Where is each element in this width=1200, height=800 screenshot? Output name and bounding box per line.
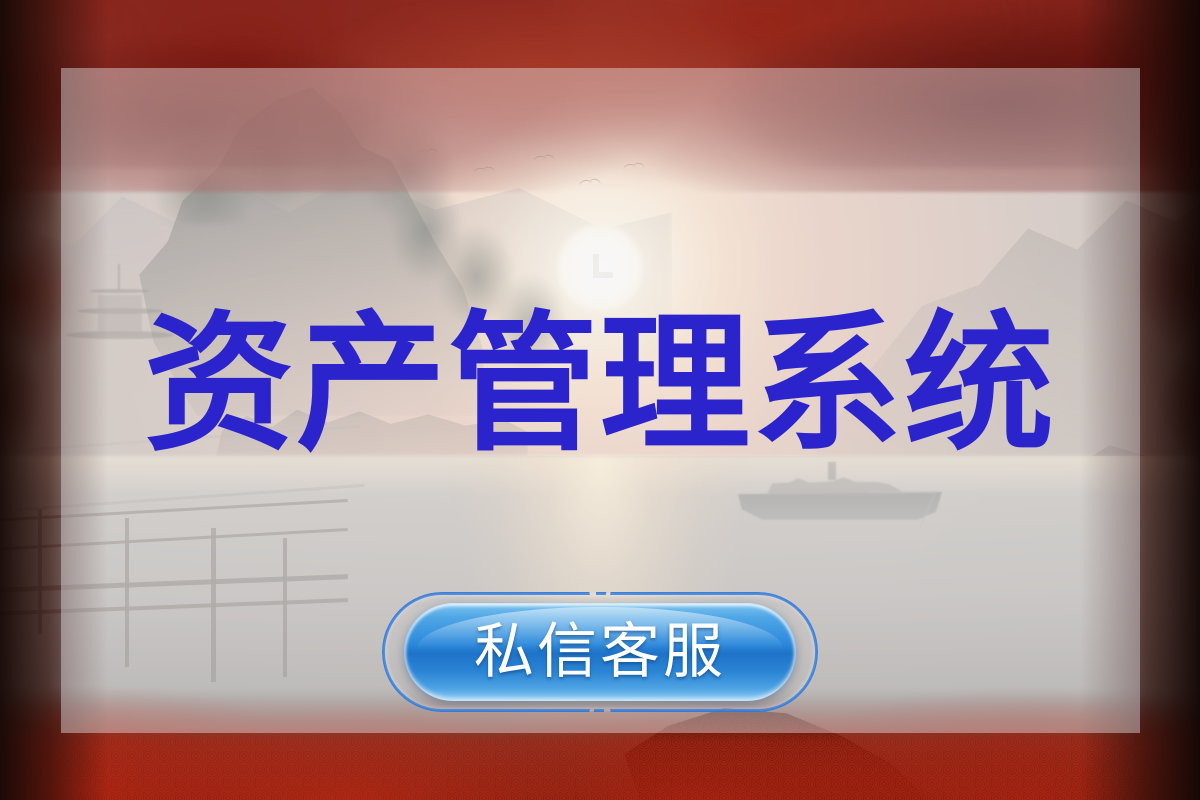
page-title: 资产管理系统: [0, 300, 1200, 470]
ship-gangway: [852, 491, 937, 527]
sun-watermark-icon: [583, 252, 617, 286]
pier-post: [283, 538, 287, 677]
contact-support-button-label: 私信客服: [474, 622, 726, 682]
poster-canvas: 资产管理系统 私信客服: [0, 0, 1200, 800]
red-cloud-band-dark: [0, 0, 1200, 168]
ship-silhouette: [738, 468, 942, 528]
pier-post: [125, 518, 129, 667]
pier-post: [211, 528, 216, 682]
cta-button-group[interactable]: 私信客服: [382, 592, 818, 712]
contact-support-button[interactable]: 私信客服: [404, 603, 796, 701]
